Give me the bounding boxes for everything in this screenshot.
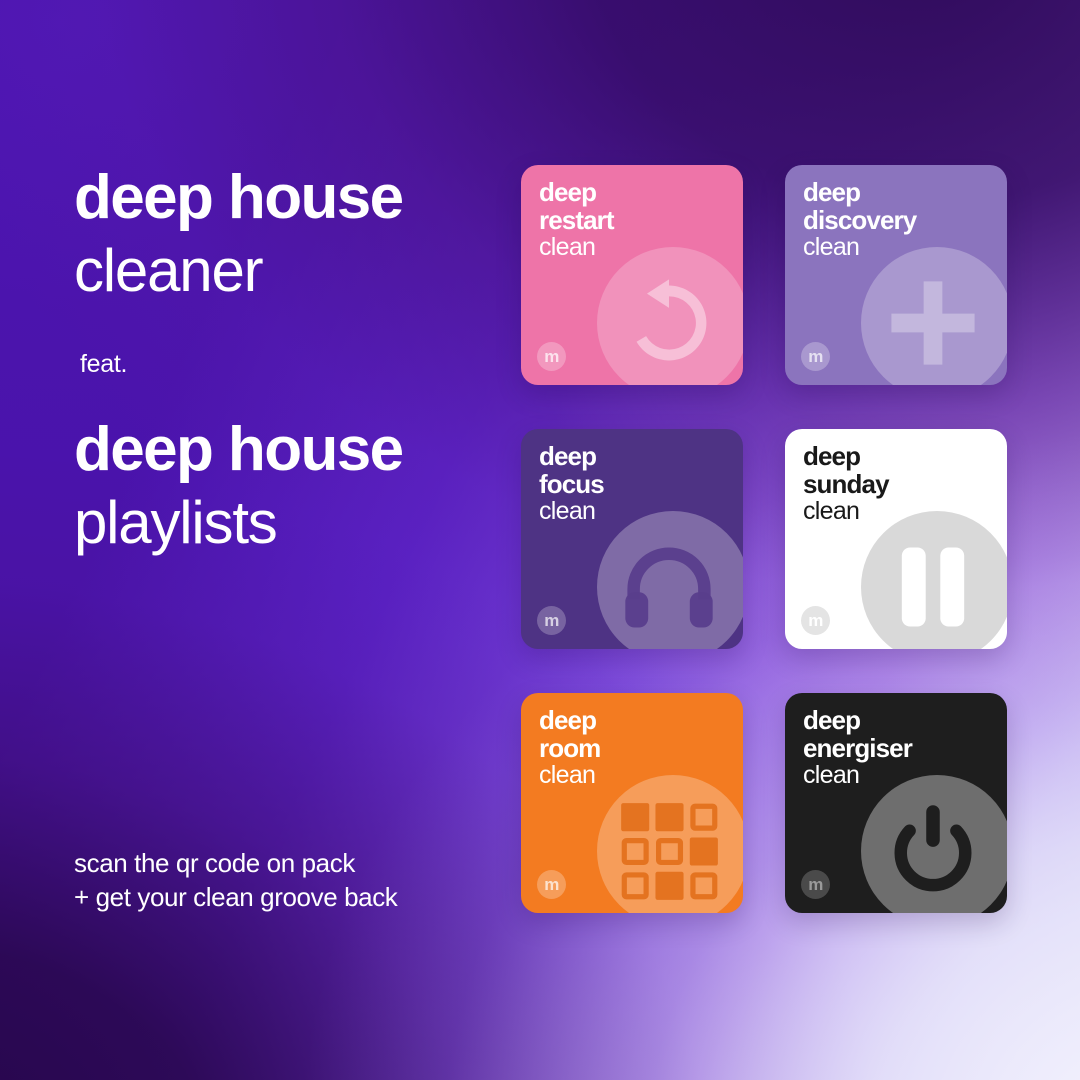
brand-badge-m: m <box>537 606 566 635</box>
playlist-tile-restart[interactable]: deep restart clean m <box>521 165 743 385</box>
tile-line3: clean <box>803 498 889 525</box>
tile-title: deep room clean <box>539 707 600 789</box>
tile-line2: restart <box>539 207 614 235</box>
tile-line3: clean <box>803 762 912 789</box>
tile-line2: focus <box>539 471 604 499</box>
tile-line1: deep <box>803 443 889 471</box>
headphones-icon <box>617 535 721 639</box>
footnote-text: scan the qr code on pack + get your clea… <box>74 846 397 915</box>
headline-primary-line1: deep house <box>74 166 403 229</box>
playlist-tile-grid: deep restart clean m deep discovery clea… <box>521 165 1011 915</box>
tile-line3: clean <box>803 234 916 261</box>
tile-line1: deep <box>539 179 614 207</box>
brand-badge-m: m <box>801 342 830 371</box>
tile-line2: energiser <box>803 735 912 763</box>
headline-secondary-line1: deep house <box>74 418 403 481</box>
tile-line3: clean <box>539 498 604 525</box>
tile-line2: sunday <box>803 471 889 499</box>
brand-badge-m: m <box>537 870 566 899</box>
brand-badge-m: m <box>801 870 830 899</box>
playlist-tile-room[interactable]: deep room clean m <box>521 693 743 913</box>
tile-line3: clean <box>539 762 600 789</box>
tile-line1: deep <box>803 707 912 735</box>
tile-line1: deep <box>803 179 916 207</box>
plus-icon <box>881 271 985 375</box>
playlist-tile-focus[interactable]: deep focus clean m <box>521 429 743 649</box>
pause-icon <box>881 535 985 639</box>
feat-label: feat. <box>80 350 127 379</box>
headline-primary: deep house cleaner <box>74 166 403 302</box>
grid-icon <box>617 799 721 903</box>
tile-line2: room <box>539 735 600 763</box>
brand-badge-m: m <box>537 342 566 371</box>
headline-secondary: deep house playlists <box>74 418 403 554</box>
headline-primary-line2: cleaner <box>74 239 403 302</box>
playlist-tile-discovery[interactable]: deep discovery clean m <box>785 165 1007 385</box>
tile-title: deep discovery clean <box>803 179 916 261</box>
tile-line2: discovery <box>803 207 916 235</box>
restart-icon <box>617 271 721 375</box>
tile-title: deep restart clean <box>539 179 614 261</box>
tile-line1: deep <box>539 443 604 471</box>
playlist-tile-energiser[interactable]: deep energiser clean m <box>785 693 1007 913</box>
playlist-tile-sunday[interactable]: deep sunday clean m <box>785 429 1007 649</box>
tile-line3: clean <box>539 234 614 261</box>
tile-title: deep energiser clean <box>803 707 912 789</box>
headline-secondary-line2: playlists <box>74 491 403 554</box>
power-icon <box>881 799 985 903</box>
brand-badge-m: m <box>801 606 830 635</box>
tile-title: deep focus clean <box>539 443 604 525</box>
tile-title: deep sunday clean <box>803 443 889 525</box>
tile-line1: deep <box>539 707 600 735</box>
